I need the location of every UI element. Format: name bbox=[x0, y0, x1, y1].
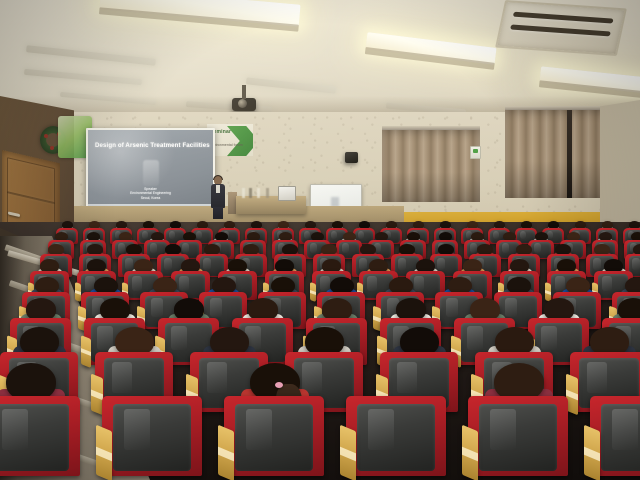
seat-armrest-tablet[interactable] bbox=[310, 282, 316, 302]
wall-speaker bbox=[345, 152, 358, 163]
presenter-legs bbox=[213, 207, 223, 219]
slide-title: Design of Arsenic Treatment Facilities bbox=[95, 142, 207, 149]
ceiling-light-off bbox=[24, 69, 142, 85]
desk-items bbox=[240, 188, 274, 198]
laptop[interactable] bbox=[278, 186, 296, 201]
ceiling-light-off bbox=[26, 45, 156, 66]
seat-armrest-tablet[interactable] bbox=[81, 335, 91, 368]
seat-armrest-tablet[interactable] bbox=[218, 425, 234, 480]
auditorium-seat[interactable] bbox=[346, 396, 446, 476]
projector-lens bbox=[238, 99, 247, 108]
auditorium-seat[interactable] bbox=[0, 396, 80, 476]
ceiling-projector bbox=[232, 98, 256, 111]
audience-seating-area bbox=[0, 222, 640, 480]
slide-subtitle: Speaker Environmental Engineering Seoul,… bbox=[88, 187, 213, 200]
ceiling-light-lit bbox=[539, 66, 640, 93]
ceiling-light-lit bbox=[99, 0, 300, 27]
ceiling-light-off bbox=[60, 92, 156, 105]
seat-armrest-tablet[interactable] bbox=[462, 425, 478, 480]
ceiling-light-lit bbox=[365, 32, 496, 65]
auditorium-seat[interactable] bbox=[102, 396, 202, 476]
projection-screen: Design of Arsenic Treatment Facilities S… bbox=[86, 128, 215, 218]
presenter-shirt bbox=[216, 185, 220, 193]
seat-armrest-tablet[interactable] bbox=[340, 425, 356, 480]
lecture-hall-photo: Seminar environmental forum Design of Ar… bbox=[0, 0, 640, 480]
projector-mount bbox=[242, 85, 246, 99]
wall-sign bbox=[470, 146, 481, 159]
hair-tie bbox=[275, 382, 283, 388]
seat-armrest-tablet[interactable] bbox=[584, 425, 600, 480]
slide-graphic bbox=[143, 160, 159, 186]
curtain-rail bbox=[382, 126, 480, 130]
seat-armrest-tablet[interactable] bbox=[96, 425, 112, 480]
auditorium-seat[interactable] bbox=[468, 396, 568, 476]
ceiling-light-off bbox=[246, 77, 336, 93]
projected-slide: Design of Arsenic Treatment Facilities S… bbox=[88, 130, 213, 216]
air-vent-grille bbox=[495, 0, 627, 56]
window-curtain-center bbox=[382, 126, 480, 202]
presenter bbox=[210, 176, 226, 218]
auditorium-seat[interactable] bbox=[224, 396, 324, 476]
